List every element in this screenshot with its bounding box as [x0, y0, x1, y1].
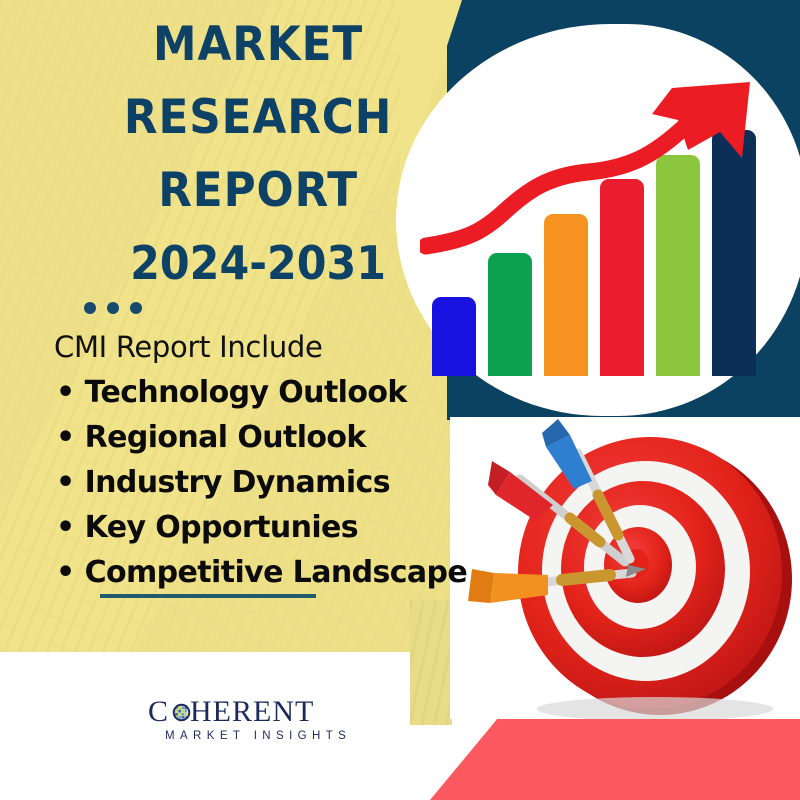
- report-poster: MARKET RESEARCH REPORT 2024-2031 CMI Rep…: [0, 0, 800, 800]
- dot-3: [130, 302, 142, 314]
- dot-1: [84, 302, 96, 314]
- bar-4: [600, 179, 644, 376]
- headline-line-2: RESEARCH: [100, 81, 416, 154]
- headline-line-3: REPORT: [100, 154, 416, 227]
- bar-chart: [432, 130, 778, 376]
- report-include-list: Technology Outlook Regional Outlook Indu…: [56, 370, 476, 595]
- bar-1: [432, 297, 476, 376]
- logo-wordmark-rest: HERENT: [190, 695, 314, 728]
- dartboard-target-icon: [450, 417, 800, 719]
- dartboard-image-panel: [450, 417, 800, 719]
- list-item: Key Opportunies: [56, 505, 476, 550]
- coherent-market-insights-logo: CHERENT: [148, 697, 348, 745]
- report-include-heading: CMI Report Include: [54, 330, 323, 364]
- divider-rule: [100, 594, 316, 598]
- headline-year-range: 2024-2031: [100, 227, 416, 300]
- bar-3: [544, 214, 588, 376]
- list-item: Industry Dynamics: [56, 460, 476, 505]
- strip-texture-overlay: [410, 600, 452, 725]
- bar-5: [656, 155, 700, 376]
- list-item: Competitive Landscape: [56, 550, 476, 595]
- bar-2: [488, 253, 532, 376]
- page-title: MARKET RESEARCH REPORT 2024-2031: [100, 8, 416, 300]
- globe-grid-icon: [172, 703, 191, 722]
- three-dots-icon: [84, 302, 142, 314]
- coral-bottom-band: [380, 718, 800, 800]
- list-item: Regional Outlook: [56, 415, 476, 460]
- dot-2: [107, 302, 119, 314]
- list-item: Technology Outlook: [56, 370, 476, 415]
- bar-6: [712, 130, 756, 376]
- logo-tagline: MARKET INSIGHTS: [165, 730, 348, 742]
- logo-wordmark-first-letter: C: [148, 695, 169, 728]
- headline-line-1: MARKET: [100, 8, 416, 81]
